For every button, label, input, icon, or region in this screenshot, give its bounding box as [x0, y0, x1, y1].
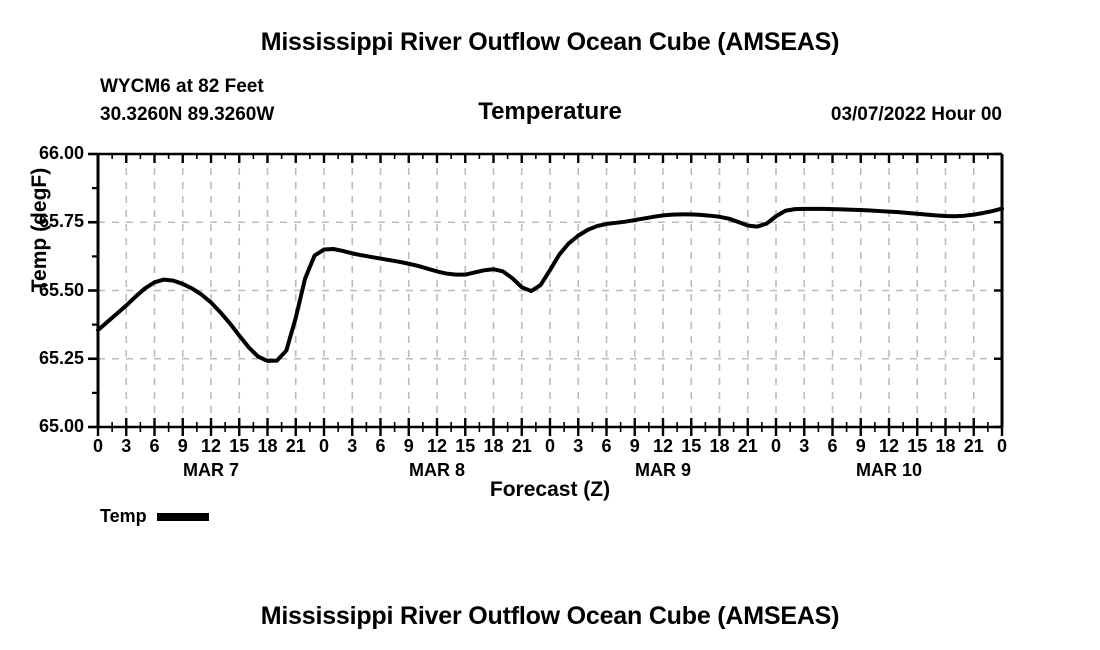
y-tick-label: 65.75	[12, 211, 84, 232]
chart-page: Mississippi River Outflow Ocean Cube (AM…	[0, 0, 1100, 650]
x-tick-label: 6	[818, 436, 848, 457]
x-tick-label: 9	[168, 436, 198, 457]
x-tick-label: 15	[676, 436, 706, 457]
legend: Temp	[100, 506, 209, 527]
day-label: MAR 8	[377, 460, 497, 481]
plot-area	[0, 0, 1100, 475]
x-tick-label: 15	[224, 436, 254, 457]
x-tick-label: 15	[450, 436, 480, 457]
x-tick-label: 0	[761, 436, 791, 457]
x-tick-label: 21	[959, 436, 989, 457]
x-tick-label: 0	[535, 436, 565, 457]
y-tick-label: 65.00	[12, 416, 84, 437]
x-tick-label: 12	[648, 436, 678, 457]
x-tick-label: 3	[789, 436, 819, 457]
day-label: MAR 7	[151, 460, 271, 481]
x-tick-label: 12	[874, 436, 904, 457]
x-tick-label: 0	[83, 436, 113, 457]
x-tick-label: 9	[846, 436, 876, 457]
x-tick-label: 6	[366, 436, 396, 457]
legend-line-swatch	[157, 513, 209, 521]
x-tick-label: 3	[111, 436, 141, 457]
x-axis-label: Forecast (Z)	[0, 478, 1100, 502]
x-tick-label: 18	[931, 436, 961, 457]
page-footer-title: Mississippi River Outflow Ocean Cube (AM…	[0, 602, 1100, 631]
x-tick-label: 6	[140, 436, 170, 457]
x-tick-label: 0	[309, 436, 339, 457]
day-label: MAR 10	[829, 460, 949, 481]
x-tick-label: 21	[281, 436, 311, 457]
x-tick-label: 21	[507, 436, 537, 457]
x-tick-label: 21	[733, 436, 763, 457]
day-label: MAR 9	[603, 460, 723, 481]
x-tick-label: 0	[987, 436, 1017, 457]
x-tick-label: 6	[592, 436, 622, 457]
x-tick-label: 18	[479, 436, 509, 457]
y-tick-label: 65.25	[12, 348, 84, 369]
temperature-line-chart	[0, 0, 1100, 470]
y-tick-label: 66.00	[12, 143, 84, 164]
legend-label: Temp	[100, 506, 147, 527]
x-tick-label: 12	[422, 436, 452, 457]
x-tick-label: 15	[902, 436, 932, 457]
x-tick-label: 9	[394, 436, 424, 457]
x-tick-label: 9	[620, 436, 650, 457]
x-tick-label: 3	[563, 436, 593, 457]
y-tick-label: 65.50	[12, 280, 84, 301]
x-tick-label: 3	[337, 436, 367, 457]
x-tick-label: 12	[196, 436, 226, 457]
x-tick-label: 18	[253, 436, 283, 457]
x-tick-label: 18	[705, 436, 735, 457]
